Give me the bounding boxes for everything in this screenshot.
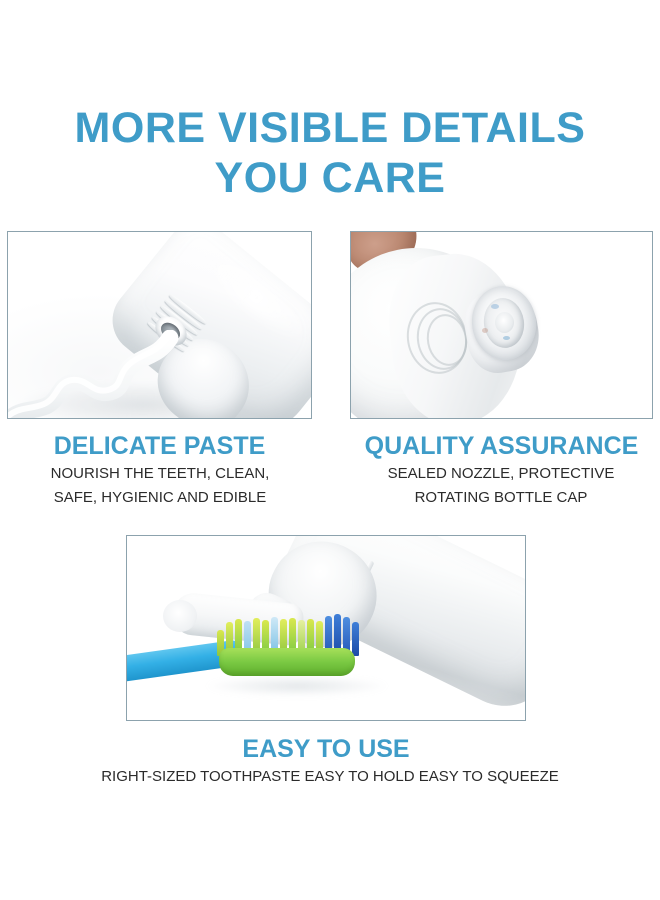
feature-image-easy-to-use bbox=[126, 535, 526, 721]
feature-title-delicate-paste: DELICATE PASTE bbox=[7, 432, 312, 460]
paste-squiggle bbox=[7, 330, 198, 419]
feature-body-easy-to-use: RIGHT-SIZED TOOTHPASTE EASY TO HOLD EASY… bbox=[0, 765, 660, 789]
page-title-line-2: YOU CARE bbox=[0, 153, 660, 203]
toothpaste-tube-illustration bbox=[8, 232, 311, 418]
page-title: MORE VISIBLE DETAILS YOU CARE bbox=[0, 103, 660, 203]
feature-title-easy-to-use: EASY TO USE bbox=[126, 735, 526, 763]
feature-image-delicate-paste bbox=[7, 231, 312, 419]
toothbrush-illustration bbox=[127, 536, 525, 720]
bottle-cap-illustration bbox=[351, 232, 652, 418]
feature-body-line-2: SAFE, HYGIENIC AND EDIBLE bbox=[0, 486, 320, 510]
product-feature-infographic: MORE VISIBLE DETAILS YOU CARE bbox=[0, 0, 660, 900]
feature-body-delicate-paste: NOURISH THE TEETH, CLEAN, SAFE, HYGIENIC… bbox=[0, 462, 320, 510]
feature-body-line-1: RIGHT-SIZED TOOTHPASTE EASY TO HOLD EASY… bbox=[0, 765, 660, 789]
feature-body-quality-assurance: SEALED NOZZLE, PROTECTIVE ROTATING BOTTL… bbox=[345, 462, 657, 510]
brush-head bbox=[219, 648, 355, 676]
page-title-line-1: MORE VISIBLE DETAILS bbox=[0, 103, 660, 153]
feature-body-line-1: SEALED NOZZLE, PROTECTIVE bbox=[345, 462, 657, 486]
feature-title-quality-assurance: QUALITY ASSURANCE bbox=[350, 432, 653, 460]
feature-body-line-1: NOURISH THE TEETH, CLEAN, bbox=[0, 462, 320, 486]
feature-body-line-2: ROTATING BOTTLE CAP bbox=[345, 486, 657, 510]
feature-image-quality-assurance bbox=[350, 231, 653, 419]
